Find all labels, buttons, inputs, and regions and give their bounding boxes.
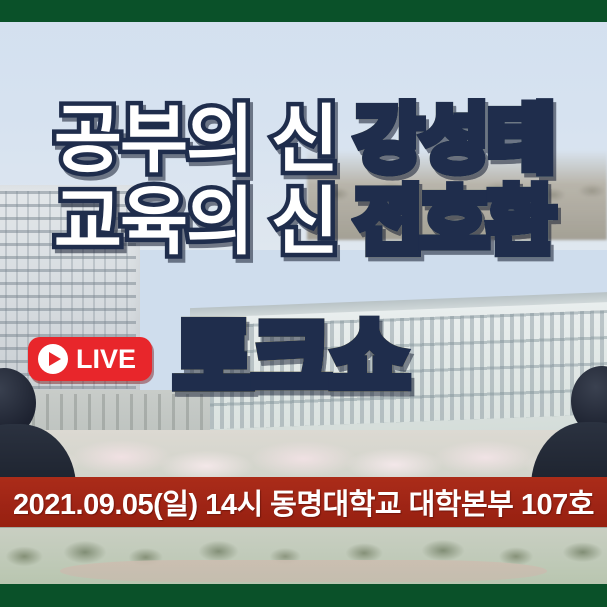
headline-line-1: 공부의 신강성태	[0, 103, 607, 177]
live-badge-label: LIVE	[76, 346, 136, 373]
talkshow-title: 토크쇼	[174, 316, 408, 402]
live-title-row: LIVE 토크쇼	[0, 316, 607, 402]
play-triangle	[49, 352, 61, 366]
headline-line-1-white: 공부의 신	[54, 103, 337, 177]
live-badge[interactable]: LIVE	[28, 337, 152, 381]
headline-line-2-white: 교육의 신	[54, 185, 337, 259]
top-green-bar	[0, 0, 607, 22]
headline-line-1-accent: 강성태	[355, 103, 553, 177]
bottom-green-bar	[0, 584, 607, 607]
headline-line-2-accent: 전호환	[355, 185, 553, 259]
info-banner: 2021.09.05(일) 14시 동명대학교 대학본부 107호	[0, 477, 607, 527]
info-banner-text: 2021.09.05(일) 14시 동명대학교 대학본부 107호	[13, 481, 594, 523]
live-talkshow-poster: 공부의 신강성태 교육의 신전호환 LIVE 토크쇼 2021.09.05(일)…	[0, 0, 607, 607]
play-icon	[38, 344, 68, 374]
park-track	[60, 560, 547, 582]
headline-line-2: 교육의 신전호환	[0, 185, 607, 259]
headline-block: 공부의 신강성태 교육의 신전호환	[0, 103, 607, 259]
